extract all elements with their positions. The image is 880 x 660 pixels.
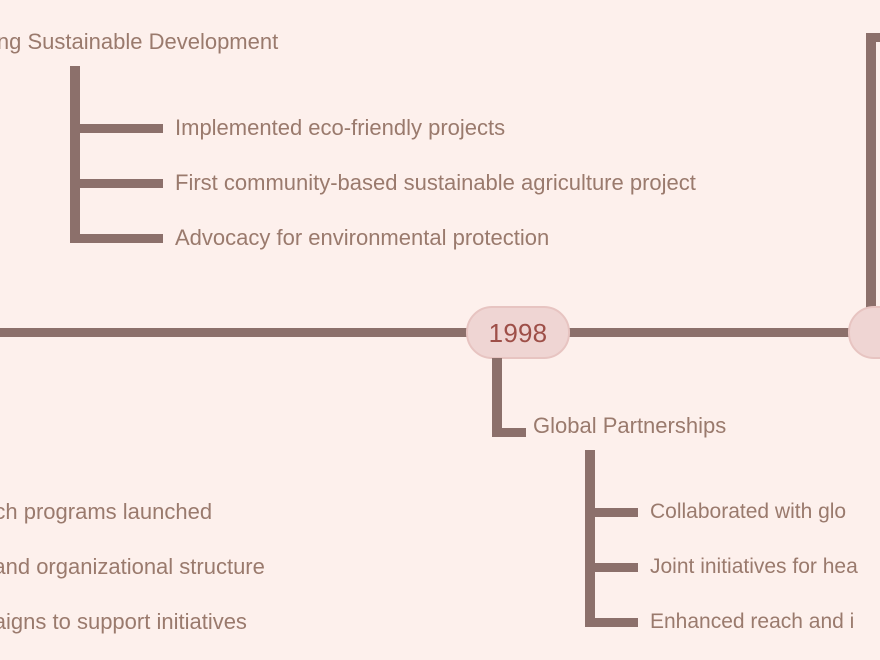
- event-item-left-2: First community-based sustainable agricu…: [175, 172, 696, 194]
- event-item-left-3: Advocacy for environmental protection: [175, 227, 549, 249]
- event-item-gp-3: Enhanced reach and i: [650, 611, 854, 632]
- event-item-left-below-1: outreach programs launched: [0, 501, 212, 523]
- branch-connector-left-1: [70, 124, 163, 133]
- event-title-global-partnerships: Global Partnerships: [533, 415, 726, 437]
- branch-connector-gp-3: [585, 618, 638, 627]
- event-title-left-period: neering Sustainable Development: [0, 31, 278, 53]
- node-stem-right: [866, 33, 876, 313]
- branch-connector-gp-1: [585, 508, 638, 517]
- timeline-diagram-canvas: neering Sustainable Development Implemen…: [0, 0, 880, 660]
- main-timeline-axis: [0, 328, 880, 337]
- branch-connector-gp-2: [585, 563, 638, 572]
- event-item-gp-1: Collaborated with glo: [650, 501, 846, 522]
- event-item-left-below-3: campaigns to support initiatives: [0, 611, 247, 633]
- timeline-node-1998[interactable]: 1998: [466, 306, 570, 359]
- branch-trunk-global-partnerships: [585, 450, 595, 627]
- node-stem-1998: [492, 358, 502, 437]
- node-elbow-right: [866, 33, 880, 42]
- branch-connector-left-2: [70, 179, 163, 188]
- event-item-left-below-2: e team and organizational structure: [0, 556, 265, 578]
- event-item-left-1: Implemented eco-friendly projects: [175, 117, 505, 139]
- timeline-node-right[interactable]: 20: [848, 306, 880, 359]
- node-elbow-1998: [492, 428, 526, 437]
- branch-connector-left-3: [70, 234, 163, 243]
- branch-trunk-left-period: [70, 66, 80, 243]
- event-item-gp-2: Joint initiatives for hea: [650, 556, 858, 577]
